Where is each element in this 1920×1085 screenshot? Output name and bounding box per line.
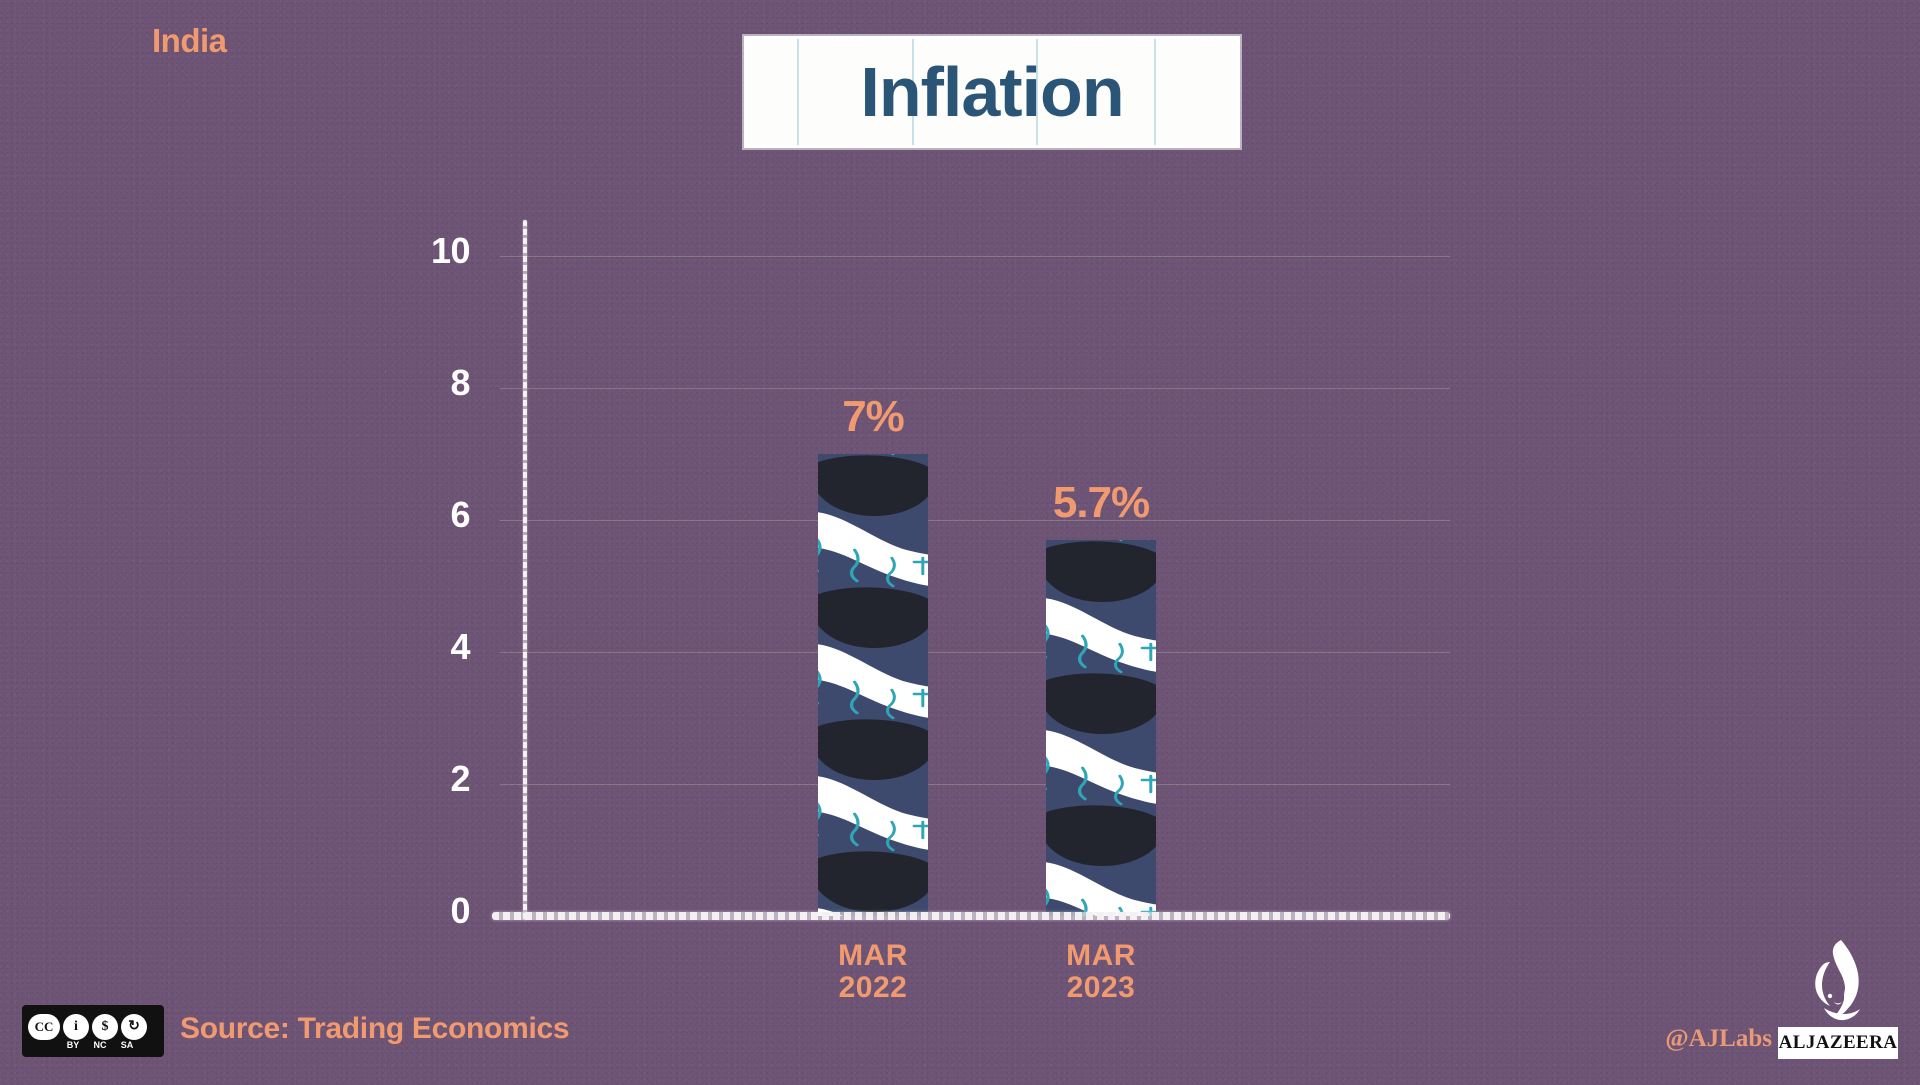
cc-term-by: BY bbox=[62, 1040, 84, 1050]
x-tick-label-line: MAR bbox=[991, 940, 1211, 972]
bar-texture bbox=[818, 454, 928, 916]
y-tick-label: 4 bbox=[400, 626, 470, 668]
x-tick-label-line: 2022 bbox=[763, 972, 983, 1004]
aljazeera-wordmark: ALJAZEERA bbox=[1778, 1027, 1898, 1059]
y-tick-label: 0 bbox=[400, 890, 470, 932]
y-tick-label: 8 bbox=[400, 362, 470, 404]
cc-sa-share-alike-icon: ↻ bbox=[121, 1014, 147, 1040]
y-tick-label: 2 bbox=[400, 758, 470, 800]
x-tick-label-line: 2023 bbox=[991, 972, 1211, 1004]
aljazeera-logo: ALJAZEERA bbox=[1778, 938, 1898, 1064]
page-title: Inflation bbox=[860, 52, 1123, 132]
bar-texture bbox=[1046, 540, 1156, 916]
bar bbox=[1046, 540, 1156, 916]
creative-commons-badge: CC i $ ↻ BY NC SA bbox=[22, 1005, 164, 1057]
x-tick-label: MAR2023 bbox=[991, 940, 1211, 1005]
chart-plot-area: 1086420 bbox=[0, 0, 1920, 1085]
cc-icon: CC bbox=[28, 1014, 60, 1040]
source-credit: Source: Trading Economics bbox=[180, 1012, 569, 1046]
y-tick-label: 10 bbox=[400, 230, 470, 272]
cc-term-sa: SA bbox=[116, 1040, 138, 1050]
y-tick-label: 6 bbox=[400, 494, 470, 536]
gridline bbox=[500, 388, 1450, 389]
x-axis-line bbox=[492, 912, 1450, 920]
x-tick-label: MAR2022 bbox=[763, 940, 983, 1005]
bar bbox=[818, 454, 928, 916]
cc-icon-row: CC i $ ↻ bbox=[24, 1012, 162, 1040]
gridline bbox=[500, 784, 1450, 785]
gridline bbox=[500, 256, 1450, 257]
cc-by-person-icon: i bbox=[63, 1014, 89, 1040]
bar-value-label: 5.7% bbox=[991, 478, 1211, 528]
bar-value-label: 7% bbox=[763, 392, 983, 442]
aljazeera-wordmark-text: ALJAZEERA bbox=[1779, 1032, 1898, 1054]
x-tick-label-line: MAR bbox=[763, 940, 983, 972]
aljazeera-calligraphy-icon bbox=[1778, 938, 1898, 1024]
cc-nc-dollar-slash-icon: $ bbox=[92, 1014, 118, 1040]
cc-term-nc: NC bbox=[89, 1040, 111, 1050]
gridline bbox=[500, 520, 1450, 521]
gridline bbox=[500, 652, 1450, 653]
y-axis-line bbox=[523, 220, 527, 920]
cc-term-abbreviations: BY NC SA bbox=[24, 1040, 162, 1051]
social-handle: @AJLabs bbox=[1665, 1025, 1772, 1053]
